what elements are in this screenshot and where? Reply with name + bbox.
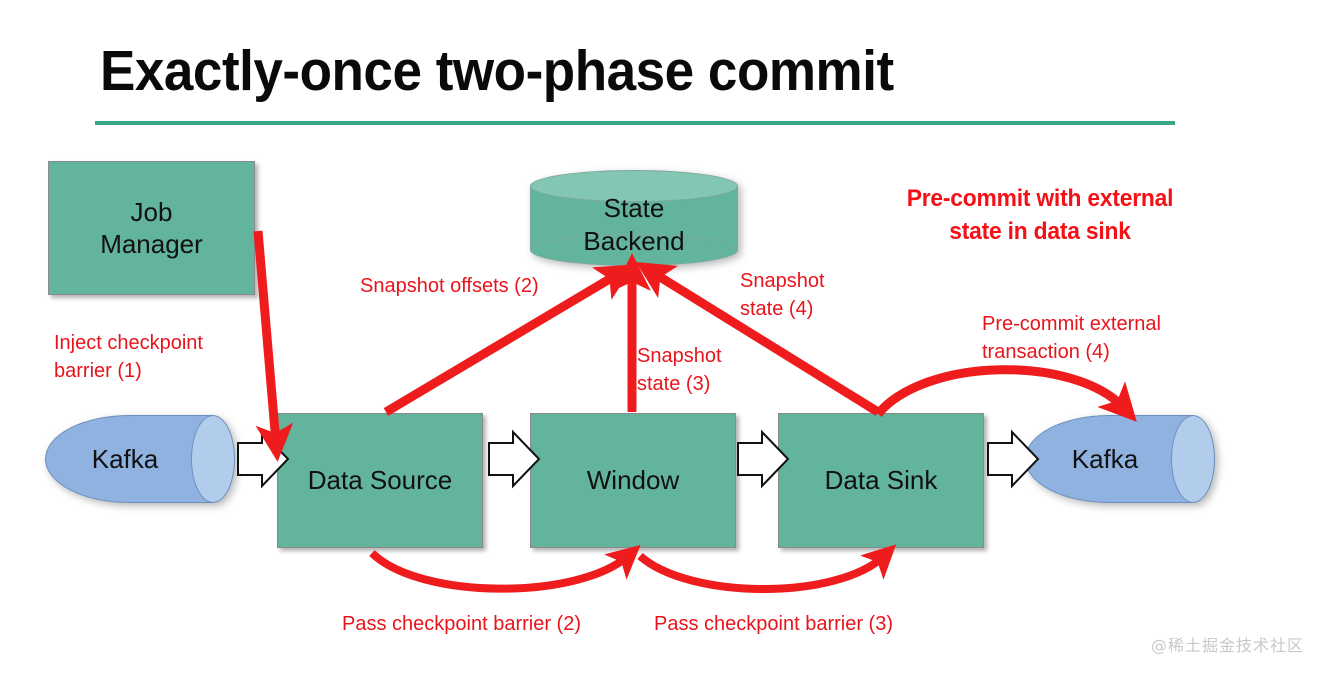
node-data-sink[interactable]: Data Sink: [778, 413, 984, 548]
node-data-sink-label: Data Sink: [825, 464, 938, 497]
slide-canvas: Exactly-once two-phase commit Job Manage…: [0, 0, 1328, 674]
node-data-source-label: Data Source: [308, 464, 453, 497]
annotation-headline: Pre-commit with external state in data s…: [855, 182, 1226, 248]
node-data-source[interactable]: Data Source: [277, 413, 483, 548]
annotation-snapshot-state-4: Snapshot state (4): [740, 268, 900, 323]
node-kafka-source-label: Kafka: [45, 444, 205, 475]
annotation-pre-commit-transaction: Pre-commit external transaction (4): [982, 311, 1212, 366]
arrow-pre-commit-transaction: [878, 370, 1124, 414]
node-kafka-sink[interactable]: Kafka: [1025, 415, 1215, 503]
node-kafka-source[interactable]: Kafka: [45, 415, 235, 503]
node-state-backend[interactable]: State Backend: [530, 170, 738, 266]
node-job-manager[interactable]: Job Manager: [48, 161, 255, 295]
node-window[interactable]: Window: [530, 413, 736, 548]
node-job-manager-label: Job Manager: [100, 196, 203, 261]
node-kafka-sink-label: Kafka: [1025, 444, 1185, 475]
annotation-inject-barrier: Inject checkpoint barrier (1): [54, 330, 304, 385]
node-state-backend-label: State Backend: [530, 192, 738, 257]
annotation-snapshot-state-3: Snapshot state (3): [637, 343, 787, 398]
arrow-pass-barrier-3: [640, 556, 884, 589]
watermark: @稀土掘金技术社区: [1151, 632, 1304, 656]
arrow-pass-barrier-2: [372, 553, 628, 589]
page-title: Exactly-once two-phase commit: [100, 38, 894, 104]
title-divider: [95, 121, 1175, 125]
annotation-pass-barrier-3: Pass checkpoint barrier (3): [654, 611, 954, 639]
annotation-pass-barrier-2: Pass checkpoint barrier (2): [342, 611, 642, 639]
node-window-label: Window: [587, 464, 679, 497]
annotation-snapshot-offsets: Snapshot offsets (2): [360, 273, 620, 301]
